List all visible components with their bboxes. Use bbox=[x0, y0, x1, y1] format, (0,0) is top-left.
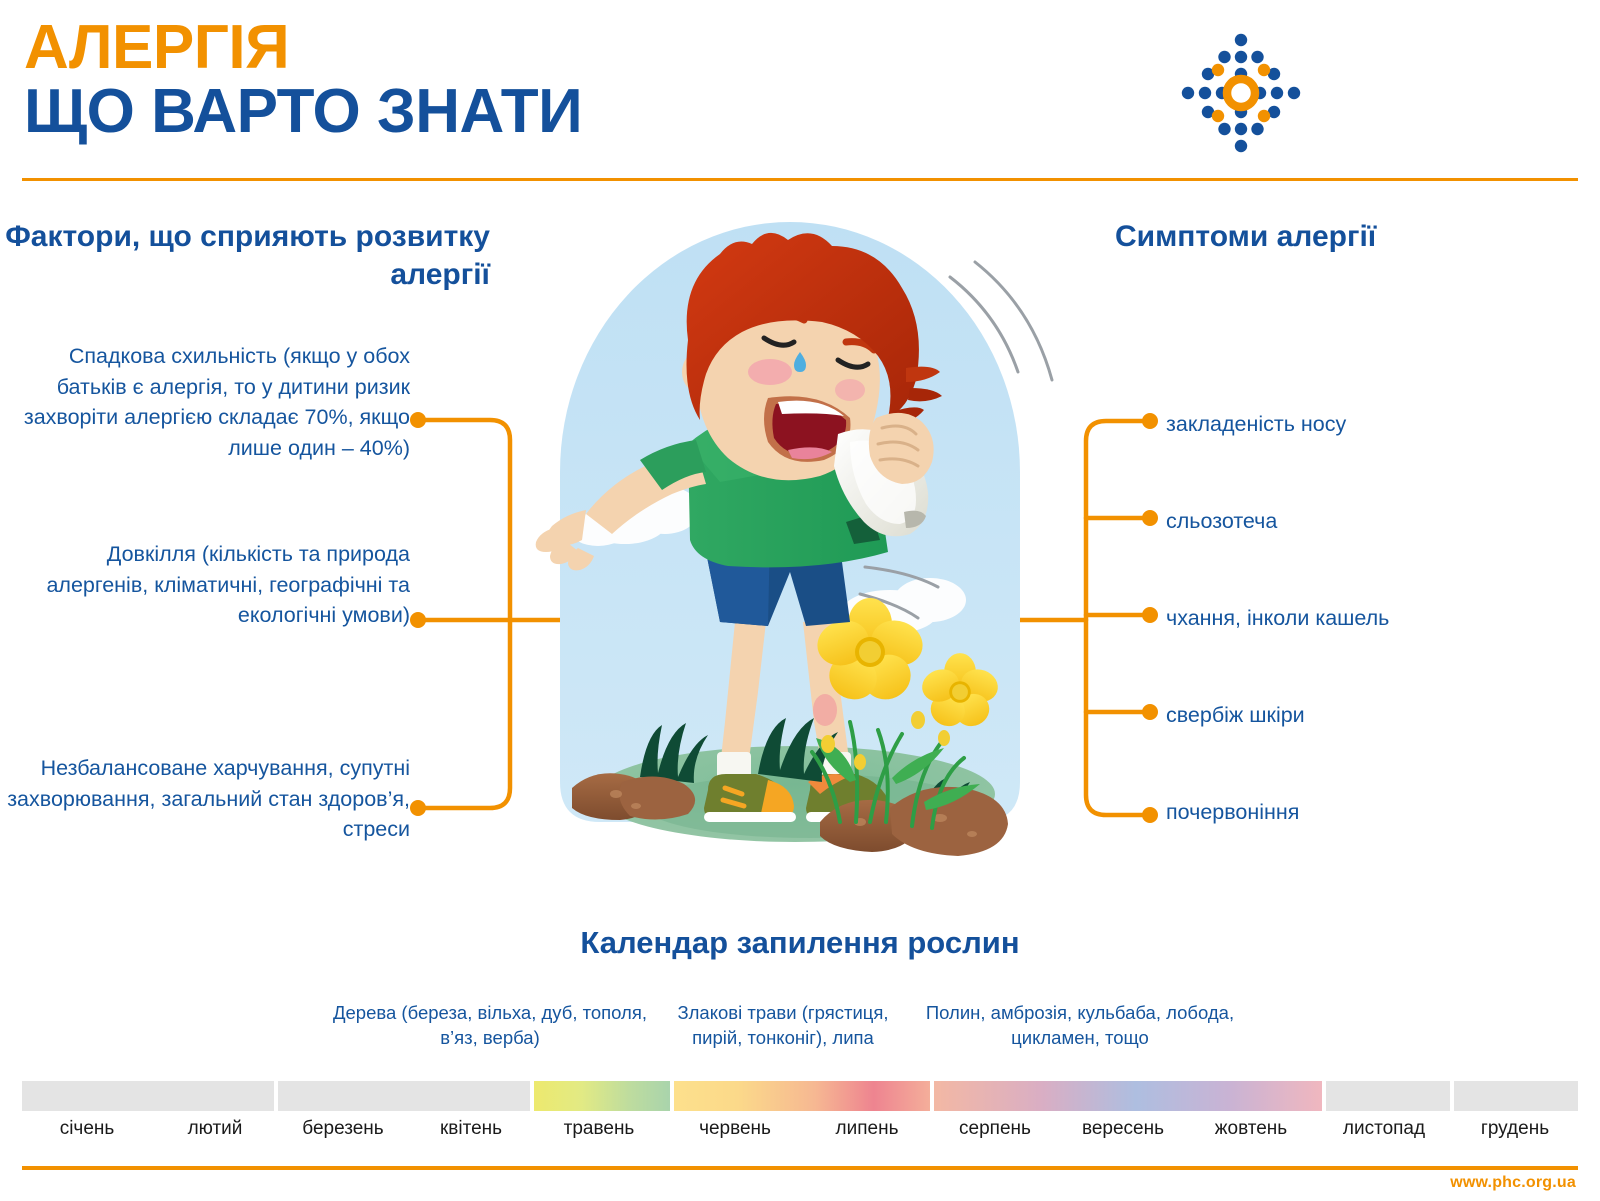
header-divider bbox=[22, 178, 1578, 181]
calendar-cell-weeds bbox=[934, 1081, 1322, 1111]
symptom-item-nasal-congestion: закладеність носу bbox=[1166, 411, 1346, 439]
symptom-item-watery-eyes: сльозотеча bbox=[1166, 508, 1277, 536]
month-label: серпень bbox=[930, 1118, 1060, 1140]
calendar-band-label-trees: Дерева (береза, вільха, дуб, тополя, в’я… bbox=[330, 1000, 650, 1050]
connector-dot-right-2 bbox=[1142, 510, 1158, 526]
symptom-item-redness: почервоніння bbox=[1166, 799, 1299, 827]
connector-dot-right-1 bbox=[1142, 413, 1158, 429]
month-label: вересень bbox=[1058, 1118, 1188, 1140]
factor-item-lifestyle: Незбалансоване харчування, супутні захво… bbox=[0, 753, 410, 845]
connector-dot-left-1 bbox=[410, 412, 426, 428]
month-label: липень bbox=[802, 1118, 932, 1140]
calendar-cell-inactive bbox=[22, 1081, 274, 1111]
calendar-cell-trees bbox=[534, 1081, 670, 1111]
footer-url-link[interactable]: www.phc.org.ua bbox=[1450, 1174, 1576, 1192]
symptoms-heading: Симптоми алергії bbox=[1115, 218, 1545, 256]
month-label: червень bbox=[670, 1118, 800, 1140]
connector-dot-left-3 bbox=[410, 800, 426, 816]
title-line-allergy: АЛЕРГІЯ bbox=[24, 18, 582, 78]
calendar-band-label-weeds: Полин, амброзія, кульбаба, лобода, цикла… bbox=[925, 1000, 1235, 1050]
footer-divider bbox=[22, 1166, 1578, 1170]
calendar-title: Календар запилення рослин bbox=[0, 925, 1600, 961]
skin-rash bbox=[813, 694, 837, 726]
factor-item-heredity: Спадкова схильність (якщо у обох батьків… bbox=[0, 341, 410, 463]
symptom-item-sneezing-cough: чхання, інколи кашель bbox=[1166, 605, 1389, 633]
calendar-cell-inactive bbox=[278, 1081, 530, 1111]
connector-dot-right-5 bbox=[1142, 807, 1158, 823]
month-label: лютий bbox=[150, 1118, 280, 1140]
month-label: травень bbox=[534, 1118, 664, 1140]
calendar-cell-inactive bbox=[1454, 1081, 1578, 1111]
phc-logo-icon bbox=[1178, 30, 1304, 156]
calendar-band-label-grasses: Злакові трави (грястиця, пирій, тонконіг… bbox=[652, 1000, 914, 1050]
symptom-item-skin-itch: свербіж шкіри bbox=[1166, 702, 1305, 730]
month-label: грудень bbox=[1450, 1118, 1580, 1140]
factors-heading: Фактори, що сприяють розвитку алергії bbox=[0, 218, 490, 294]
calendar-bar bbox=[22, 1081, 1578, 1111]
connector-dot-right-3 bbox=[1142, 607, 1158, 623]
calendar-cell-grasses bbox=[674, 1081, 930, 1111]
sneezing-boy-illustration bbox=[520, 222, 1080, 882]
calendar-cell-inactive bbox=[1326, 1081, 1450, 1111]
connector-dot-right-4 bbox=[1142, 704, 1158, 720]
logo: ЦЕНТР ГРОМАДСЬКОГО ЗДОРОВ’Я bbox=[1178, 28, 1578, 158]
month-label: листопад bbox=[1314, 1118, 1454, 1140]
calendar-month-labels: січень лютий березень квітень травень че… bbox=[22, 1118, 1578, 1148]
connector-dot-left-2 bbox=[410, 612, 426, 628]
month-label: жовтень bbox=[1186, 1118, 1316, 1140]
page-title: АЛЕРГІЯ ЩО ВАРТО ЗНАТИ bbox=[24, 18, 582, 141]
month-label: квітень bbox=[406, 1118, 536, 1140]
month-label: березень bbox=[278, 1118, 408, 1140]
infographic-page: АЛЕРГІЯ ЩО ВАРТО ЗНАТИ bbox=[0, 0, 1600, 1201]
title-line-subtitle: ЩО ВАРТО ЗНАТИ bbox=[24, 82, 582, 142]
month-label: січень bbox=[22, 1118, 152, 1140]
factor-item-environment: Довкілля (кількість та природа алергенів… bbox=[0, 539, 410, 631]
